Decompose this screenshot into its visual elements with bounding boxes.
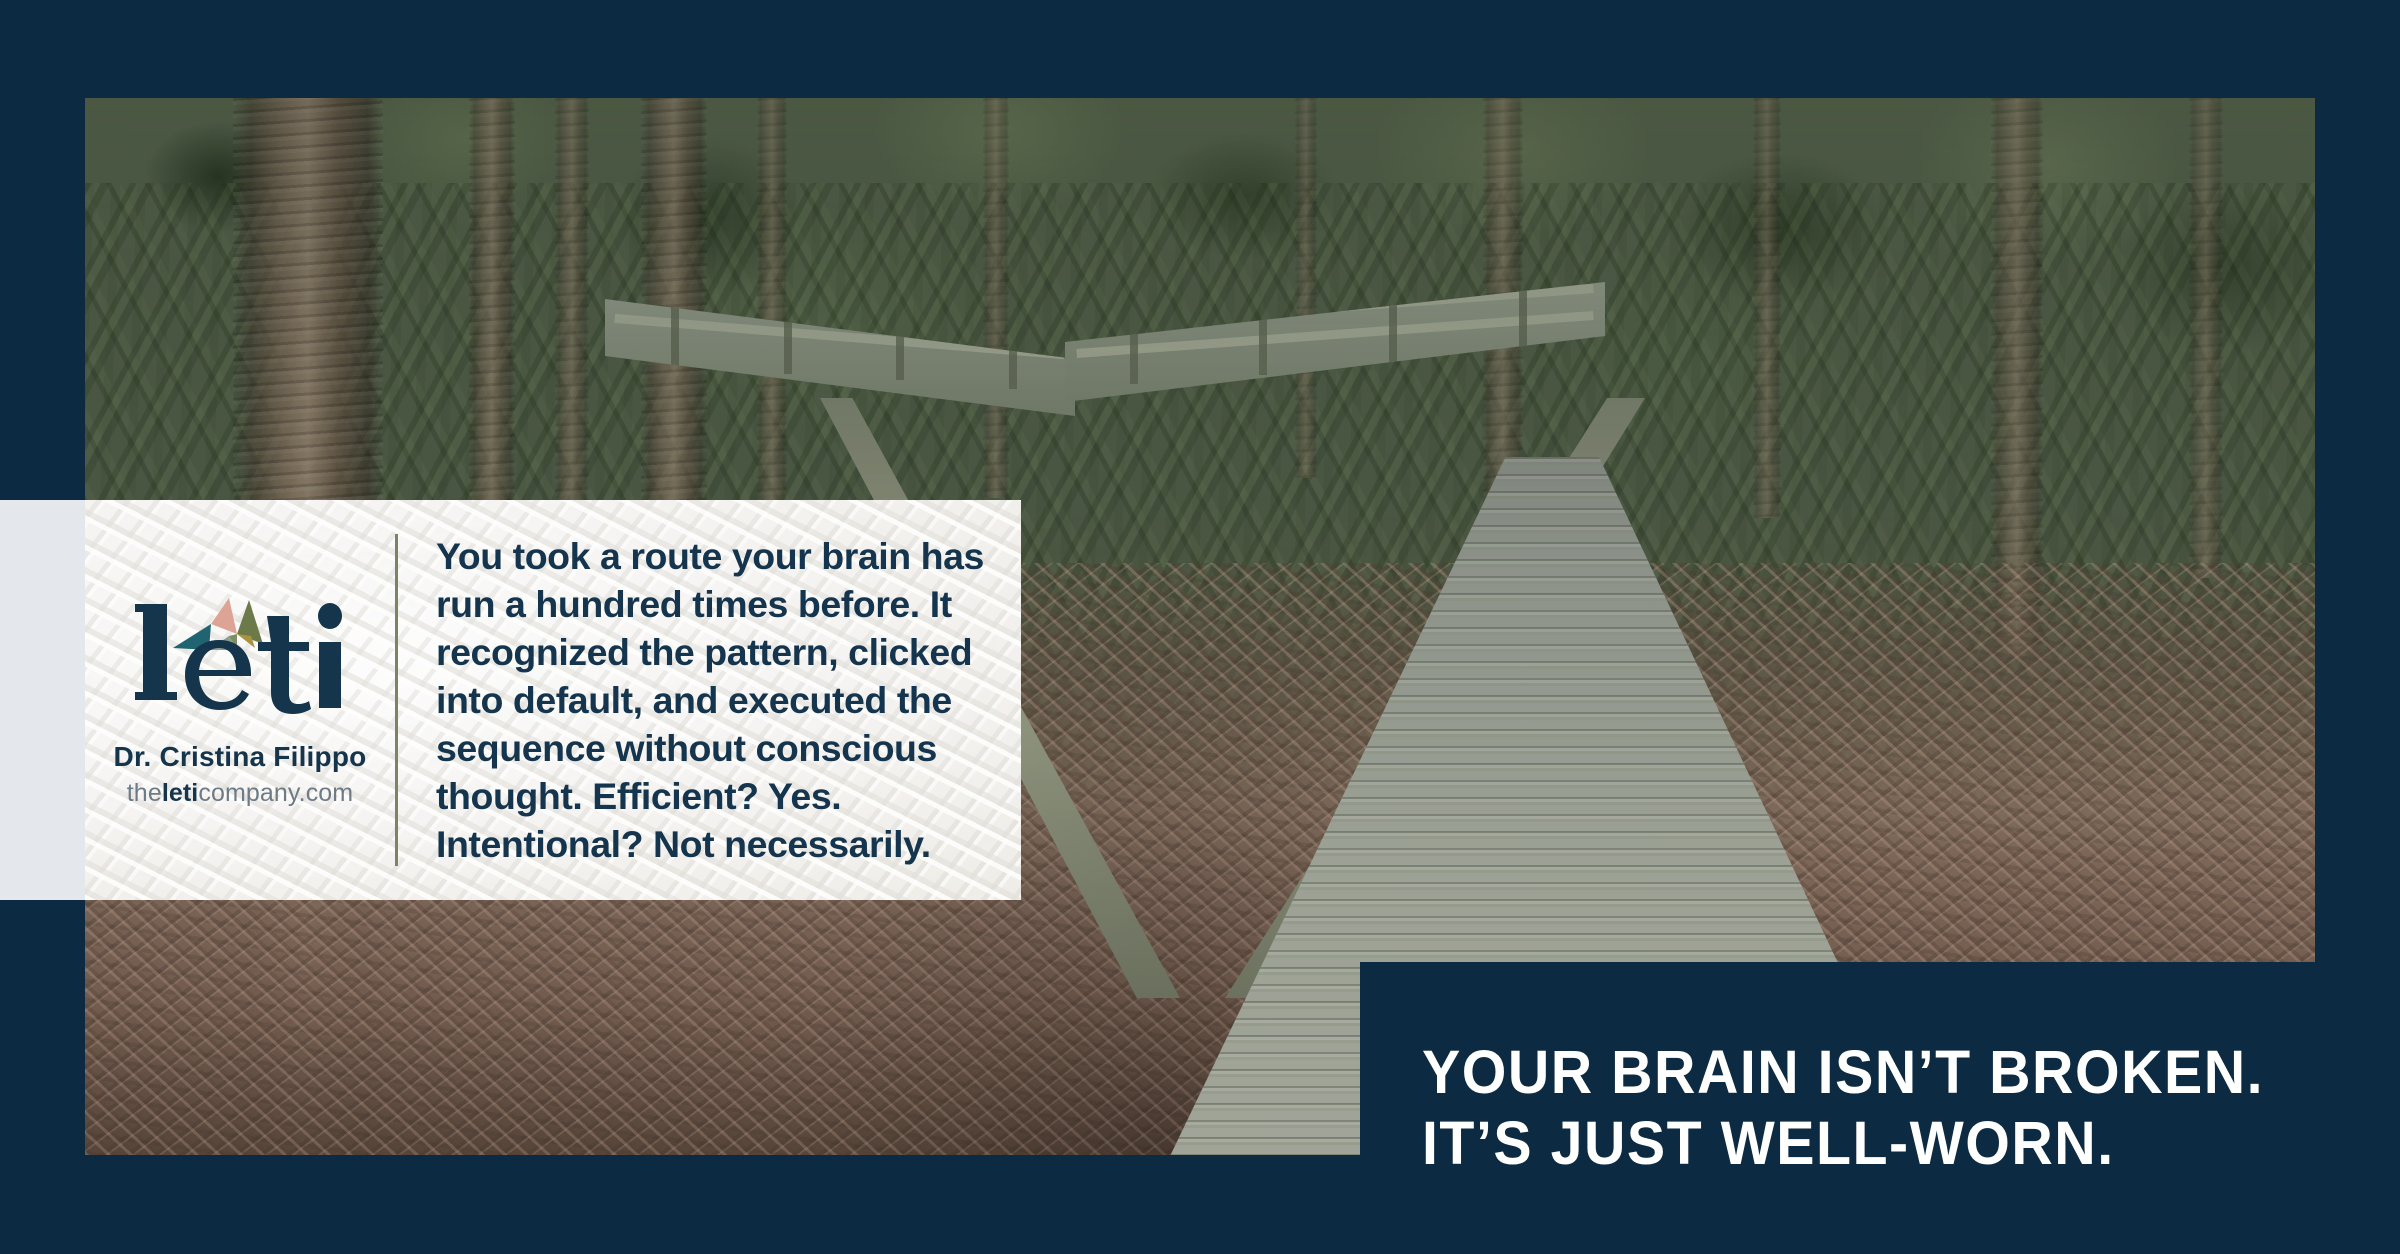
card-quote-column: You took a route your brain has run a hu… (398, 500, 1021, 900)
card-body: Dr. Cristina Filippo theleticompany.com … (85, 500, 1021, 900)
headline-block: YOUR BRAIN ISN’T BROKEN. IT’S JUST WELL-… (1360, 962, 2400, 1254)
url-brand: leti (162, 779, 199, 807)
social-graphic-canvas: Dr. Cristina Filippo theleticompany.com … (0, 0, 2400, 1254)
quote-text: You took a route your brain has run a hu… (436, 532, 987, 868)
author-byline: Dr. Cristina Filippo (114, 742, 367, 773)
headline-line-2: IT’S JUST WELL-WORN. (1422, 1108, 2341, 1179)
website-url[interactable]: theleticompany.com (127, 779, 353, 808)
leti-wordmark (135, 603, 342, 714)
headline-line-1: YOUR BRAIN ISN’T BROKEN. (1422, 1037, 2341, 1108)
url-prefix: the (127, 779, 162, 807)
card-brand-column: Dr. Cristina Filippo theleticompany.com (85, 500, 395, 900)
leti-logo[interactable] (133, 586, 348, 716)
card-accent-strip (0, 500, 85, 900)
quote-card: Dr. Cristina Filippo theleticompany.com … (0, 500, 1021, 900)
url-suffix: company.com (198, 779, 353, 807)
